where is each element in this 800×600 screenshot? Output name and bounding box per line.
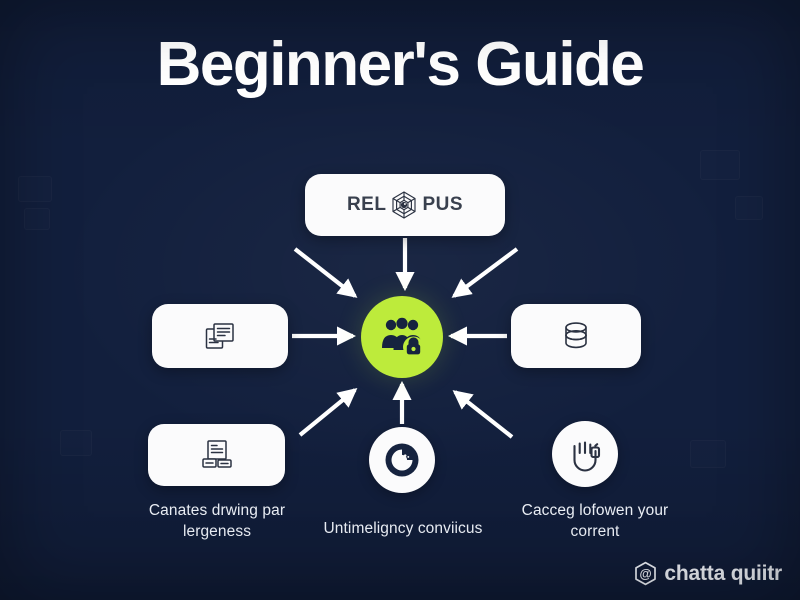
database-icon — [557, 317, 595, 355]
background-pattern-rect — [18, 176, 52, 202]
background-pattern-rect — [24, 208, 50, 230]
g-badge-icon — [380, 438, 424, 482]
hexagon-web-icon — [387, 188, 421, 222]
document-monitor-icon — [197, 435, 237, 475]
caption-bottom-right: Cacceg lofowen your corrent — [500, 500, 690, 543]
documents-copy-icon — [200, 316, 240, 356]
watermark: @ chatta quiitr — [633, 561, 782, 586]
infographic-canvas: Beginner's Guide — [0, 0, 800, 600]
users-lock-icon — [376, 311, 428, 363]
caption-bottom-left: Canates drwing par lergeness — [122, 500, 312, 543]
background-pattern-rect — [690, 440, 726, 468]
top-card-wordmark-right: PUS — [422, 194, 463, 216]
top-card-wordmark: REL PUS — [347, 188, 463, 222]
top-card-wordmark-left: REL — [347, 194, 387, 216]
node-circle-bottom-center[interactable] — [369, 427, 435, 493]
node-card-right[interactable] — [511, 304, 641, 368]
arrow-bottom-right-to-center — [455, 392, 512, 437]
background-pattern-rect — [735, 196, 763, 220]
node-card-top[interactable]: REL PUS — [305, 174, 505, 236]
watermark-text: chatta quiitr — [664, 562, 782, 586]
node-circle-bottom-right[interactable] — [552, 421, 618, 487]
background-pattern-rect — [60, 430, 92, 456]
at-hexagon-icon: @ — [633, 561, 658, 586]
caption-bottom-center: Untimeligncy conviicus — [322, 518, 484, 539]
page-title: Beginner's Guide — [0, 32, 800, 97]
background-pattern-rect — [700, 150, 740, 180]
arrow-top-left-to-center — [295, 249, 355, 296]
center-node[interactable] — [361, 296, 443, 378]
node-card-bottom-left[interactable] — [148, 424, 285, 486]
arrow-bottom-left-to-center — [300, 390, 355, 435]
svg-text:@: @ — [640, 567, 652, 581]
node-card-left[interactable] — [152, 304, 288, 368]
arrow-top-right-to-center — [454, 249, 517, 296]
hand-bars-icon — [563, 432, 607, 476]
